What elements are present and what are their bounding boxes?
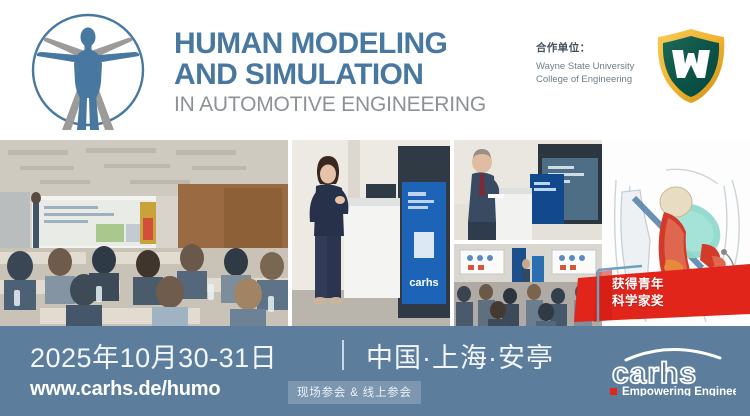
wayne-state-shield-icon — [650, 24, 732, 106]
conference-banner: HUMAN MODELING AND SIMULATION IN AUTOMOT… — [0, 0, 750, 416]
footer-separator — [342, 340, 344, 370]
vitruvian-man-icon — [22, 12, 154, 132]
carhs-logo: carhs Empowering Engineers — [596, 344, 736, 396]
award-ribbon: 获得青年 科学家奖 — [572, 264, 750, 326]
partner-block: 合作单位： Wayne State University College of … — [536, 40, 656, 86]
title-line-1: HUMAN MODELING — [174, 28, 514, 59]
title-subtitle: IN AUTOMOTIVE ENGINEERING — [174, 92, 514, 118]
event-date: 2025年10月30-31日 — [30, 336, 277, 375]
male-speaker-podium-photo — [454, 140, 602, 240]
svg-text:carhs: carhs — [409, 277, 438, 289]
conference-audience-photo — [0, 140, 288, 326]
svg-text:Empowering Engineers: Empowering Engineers — [622, 386, 736, 396]
title-line-2: AND SIMULATION — [174, 59, 514, 90]
award-ribbon-text: 获得青年 科学家奖 — [612, 276, 664, 310]
photo-strip: carhs — [0, 138, 750, 326]
attendance-mode-badge: 现场参会 & 线上参会 — [288, 381, 421, 404]
award-ribbon-line-1: 获得青年 — [612, 276, 664, 293]
partner-name-line-1: Wayne State University — [536, 60, 656, 73]
partner-name-line-2: College of Engineering — [536, 73, 656, 86]
event-location: 中国·上海·安亭 — [366, 336, 554, 375]
event-url[interactable]: www.carhs.de/humo — [30, 378, 220, 401]
page-title: HUMAN MODELING AND SIMULATION IN AUTOMOT… — [174, 28, 514, 118]
award-ribbon-line-2: 科学家奖 — [612, 293, 664, 310]
partner-label: 合作单位： — [536, 40, 656, 55]
banner-header: HUMAN MODELING AND SIMULATION IN AUTOMOT… — [0, 0, 750, 138]
female-speaker-podium-photo: carhs — [292, 140, 450, 326]
